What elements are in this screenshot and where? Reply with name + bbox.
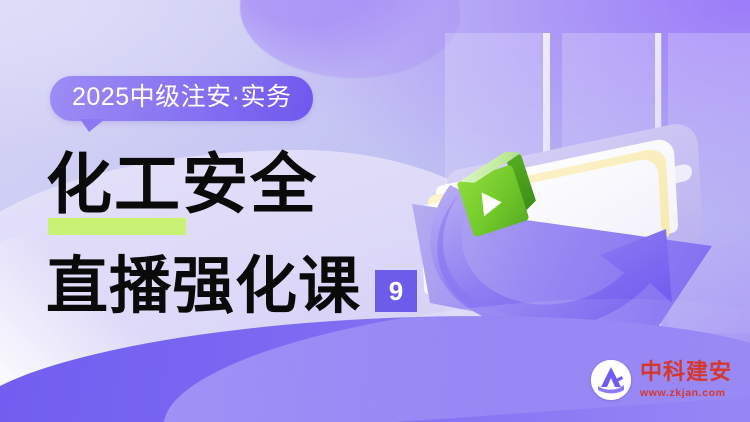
- play-triangle-icon: [482, 190, 503, 216]
- course-poster: 2025中级注安·实务 化工安全 直播强化课 9 中科建安 www.zkjan.…: [0, 0, 750, 422]
- brand-logo-text: 中科建安 www.zkjan.com: [640, 362, 732, 399]
- course-tag-badge: 2025中级注安·实务: [50, 76, 313, 121]
- headline-secondary-row: 直播强化课 9: [46, 255, 417, 317]
- brand-url: www.zkjan.com: [640, 388, 732, 399]
- zkjan-circle-mark-icon: [591, 360, 631, 400]
- brand-logo: 中科建安 www.zkjan.com: [591, 360, 732, 400]
- headline-secondary: 直播强化课: [46, 255, 361, 317]
- headline-primary: 化工安全: [46, 152, 318, 218]
- episode-number-badge: 9: [375, 270, 417, 312]
- brand-name: 中科建安: [640, 362, 732, 384]
